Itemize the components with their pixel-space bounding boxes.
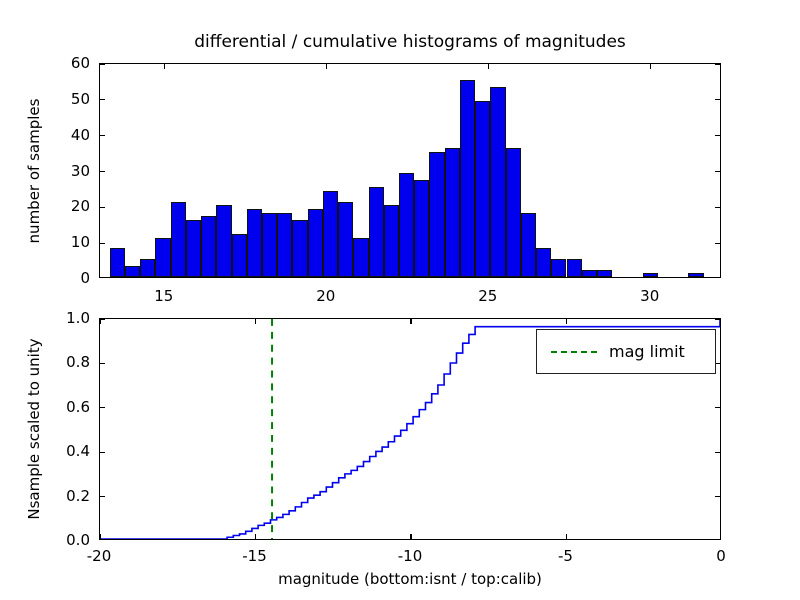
x-tick-label: -15 [242, 547, 267, 565]
x-tick [566, 534, 567, 539]
y-tick-label: 30 [71, 162, 90, 180]
y-tick [100, 496, 105, 497]
y-tick [715, 135, 720, 136]
y-tick [100, 171, 105, 172]
y-tick [100, 407, 105, 408]
histogram-bar [567, 259, 582, 277]
y-tick [715, 318, 720, 319]
y-tick [715, 407, 720, 408]
histogram-bar [582, 270, 597, 277]
y-tick-label: 0.2 [66, 487, 90, 505]
histogram-bar [232, 234, 247, 277]
histogram-bar [460, 80, 475, 277]
histogram-bar [353, 238, 368, 277]
histogram-bar [186, 220, 201, 277]
y-tick-label: 20 [71, 197, 90, 215]
legend: mag limit [536, 329, 716, 374]
y-tick-label: 0.0 [66, 531, 90, 549]
x-tick [410, 319, 411, 324]
histogram-bar [475, 101, 490, 277]
histogram-bar [171, 202, 186, 277]
x-tick-label: -5 [558, 547, 573, 565]
histogram-bar [490, 87, 505, 277]
histogram-bar [399, 173, 414, 277]
y-tick [100, 363, 105, 364]
y-tick-label: 0.4 [66, 442, 90, 460]
x-tick [255, 319, 256, 324]
x-tick-label: 25 [478, 287, 497, 305]
x-tick [99, 319, 100, 324]
y-tick [100, 318, 105, 319]
y-tick [715, 243, 720, 244]
histogram-bar [536, 248, 551, 277]
histogram-bar [429, 152, 444, 277]
x-tick-label: -20 [87, 547, 112, 565]
histogram-bar [277, 213, 292, 278]
histogram-bar [338, 202, 353, 277]
histogram-bar [110, 248, 125, 277]
y-tick-label: 40 [71, 126, 90, 144]
histogram-bar [216, 205, 231, 277]
histogram-bar [323, 191, 338, 277]
y-tick [100, 135, 105, 136]
x-tick [326, 64, 327, 69]
y-tick-label: 1.0 [66, 309, 90, 327]
x-tick-label: 0 [716, 547, 726, 565]
histogram-bar [247, 209, 262, 277]
histogram-bar [125, 266, 140, 277]
x-tick [255, 534, 256, 539]
x-tick [650, 64, 651, 69]
chart-title: differential / cumulative histograms of … [99, 32, 721, 52]
y-tick [715, 496, 720, 497]
histogram-bar [414, 180, 429, 277]
histogram-bar [445, 148, 460, 277]
x-tick [99, 534, 100, 539]
histogram-bar [643, 273, 658, 277]
y-tick-label: 50 [71, 90, 90, 108]
histogram-bar [201, 216, 216, 277]
histogram-bar [292, 220, 307, 277]
y-tick [100, 207, 105, 208]
x-tick [410, 534, 411, 539]
histogram-bar [384, 205, 399, 277]
x-tick [164, 64, 165, 69]
histogram-bar [521, 213, 536, 278]
histogram-bar [597, 270, 612, 277]
x-tick-label: 20 [316, 287, 335, 305]
x-tick-label: 30 [640, 287, 659, 305]
y-tick [100, 63, 105, 64]
top-axis-ylabel: number of samples [25, 98, 43, 243]
y-tick [715, 207, 720, 208]
y-tick-label: 0 [80, 269, 90, 287]
y-tick [715, 99, 720, 100]
histogram-bar [140, 259, 155, 277]
y-tick-label: 0.8 [66, 353, 90, 371]
y-tick-label: 10 [71, 233, 90, 251]
x-tick [488, 64, 489, 69]
chart-xlabel: magnitude (bottom:isnt / top:calib) [278, 570, 542, 588]
histogram-bar [308, 209, 323, 277]
histogram-bar [369, 187, 384, 277]
histogram-bar [551, 259, 566, 277]
figure: differential / cumulative histograms of … [0, 0, 800, 600]
y-tick [715, 452, 720, 453]
histogram-bar [688, 273, 703, 277]
x-tick [566, 319, 567, 324]
x-tick-label: 15 [154, 287, 173, 305]
y-tick-label: 60 [71, 54, 90, 72]
legend-label-mag-limit: mag limit [609, 342, 685, 361]
histogram-bar [506, 148, 521, 277]
histogram-bar [262, 213, 277, 278]
y-tick-label: 0.6 [66, 398, 90, 416]
y-tick [100, 243, 105, 244]
y-tick [100, 99, 105, 100]
differential-histogram-axes [99, 63, 721, 278]
y-tick [100, 452, 105, 453]
y-tick [715, 63, 720, 64]
bottom-axis-ylabel: Nsample scaled to unity [25, 338, 43, 519]
histogram-bar [155, 238, 170, 277]
y-tick [715, 171, 720, 172]
mag-limit-dashed-line-icon [551, 351, 597, 353]
x-tick-label: -10 [398, 547, 423, 565]
